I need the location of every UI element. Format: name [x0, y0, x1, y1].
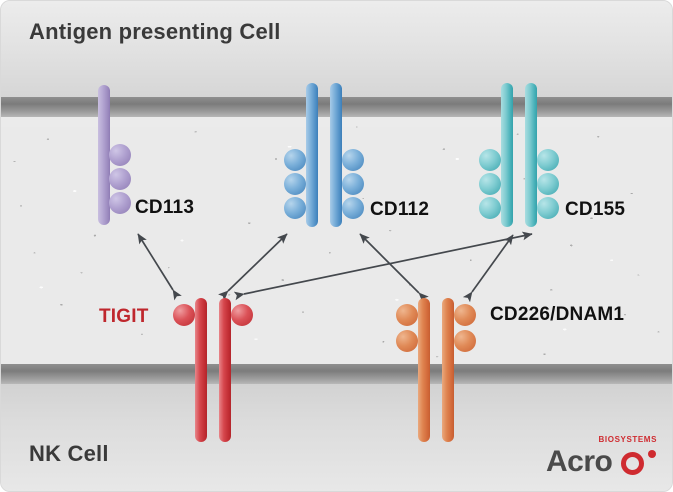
logo-ring-icon	[621, 452, 644, 475]
tigit-domain-r1	[231, 304, 253, 326]
cd226-domain-r2	[454, 330, 476, 352]
cd226-stalk-1	[418, 298, 430, 442]
tigit-label: TIGIT	[99, 306, 149, 328]
logo-dot-icon	[648, 450, 656, 458]
cd112-domain-r3	[342, 197, 364, 219]
logo-tagline: BIOSYSTEMS	[599, 435, 657, 444]
arrow-cd226-cd112	[360, 234, 419, 293]
cd226-domain-l2	[396, 330, 418, 352]
cd155-domain-r3	[537, 197, 559, 219]
cd112-stalk-1	[306, 83, 318, 227]
arrow-tigit-cd113	[138, 234, 173, 290]
cd155-label: CD155	[565, 199, 625, 221]
cd155-domain-l1	[479, 149, 501, 171]
arrow-tigit-cd112	[228, 234, 287, 291]
interaction-arrow-layer	[1, 1, 673, 492]
arrow-cd226-cd155	[472, 235, 513, 292]
cd113-label: CD113	[135, 197, 194, 219]
tigit-domain-l1	[173, 304, 195, 326]
cd155-stalk-1	[501, 83, 513, 227]
cd226-stalk-2	[442, 298, 454, 442]
cd112-domain-r1	[342, 149, 364, 171]
tigit-stalk-1	[195, 298, 207, 442]
figure-canvas: Antigen presenting Cell NK Cell CD113	[0, 0, 673, 492]
acro-biosystems-logo: BIOSYSTEMS Acro	[546, 433, 658, 479]
cd113-domain-r2	[109, 168, 131, 190]
cd226-domain-l1	[396, 304, 418, 326]
logo-wordmark: Acro	[546, 445, 612, 479]
cd113-domain-r3	[109, 192, 131, 214]
arrow-tigit-cd155	[244, 234, 532, 294]
cd112-domain-l2	[284, 173, 306, 195]
cd155-stalk-2	[525, 83, 537, 227]
cd112-domain-l1	[284, 149, 306, 171]
cd155-domain-l3	[479, 197, 501, 219]
cd155-domain-l2	[479, 173, 501, 195]
cd112-stalk-2	[330, 83, 342, 227]
cd112-label: CD112	[370, 199, 429, 221]
cd155-domain-r1	[537, 149, 559, 171]
cd112-domain-r2	[342, 173, 364, 195]
cd112-domain-l3	[284, 197, 306, 219]
tigit-stalk-2	[219, 298, 231, 442]
cd113-domain-r1	[109, 144, 131, 166]
cd155-domain-r2	[537, 173, 559, 195]
cd226-dnam1-label: CD226/DNAM1	[490, 304, 624, 326]
cd226-domain-r1	[454, 304, 476, 326]
